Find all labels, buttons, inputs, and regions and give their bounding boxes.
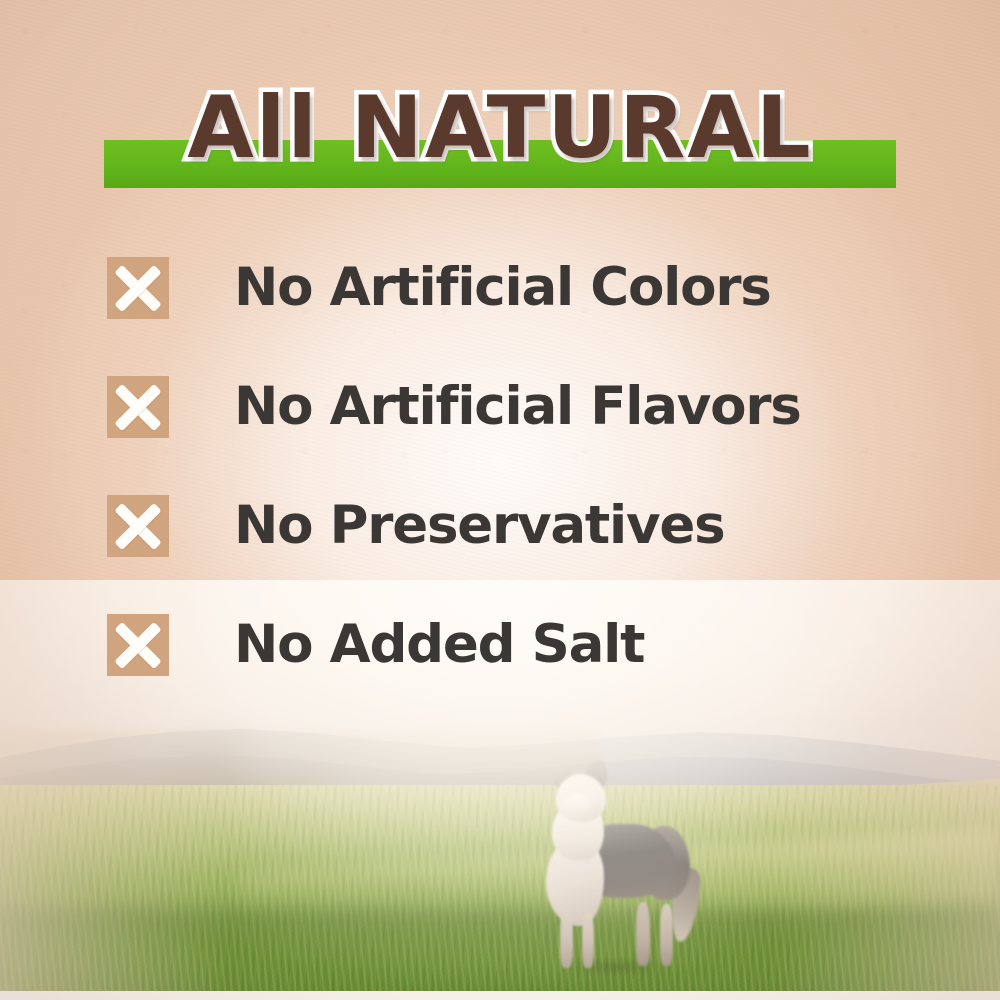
x-mark-icon: [107, 376, 169, 438]
x-mark-icon: [107, 257, 169, 319]
page-title: All NATURAL: [0, 78, 1000, 178]
claim-row-no-added-salt: No Added Salt: [0, 607, 1000, 683]
x-mark-icon: [107, 614, 169, 676]
claim-label: No Preservatives: [234, 495, 724, 557]
claim-label: No Added Salt: [234, 614, 644, 676]
claim-row-no-artificial-flavors: No Artificial Flavors: [0, 369, 1000, 445]
claim-row-no-artificial-colors: No Artificial Colors: [0, 250, 1000, 326]
claim-row-no-preservatives: No Preservatives: [0, 488, 1000, 564]
claim-label: No Artificial Flavors: [234, 376, 801, 438]
all-natural-poster: All NATURAL No Artificial Colors No Arti…: [0, 0, 1000, 1000]
claims-list: No Artificial Colors No Artificial Flavo…: [0, 250, 1000, 726]
claim-label: No Artificial Colors: [234, 257, 771, 319]
x-mark-icon: [107, 495, 169, 557]
headline-block: All NATURAL: [0, 78, 1000, 198]
